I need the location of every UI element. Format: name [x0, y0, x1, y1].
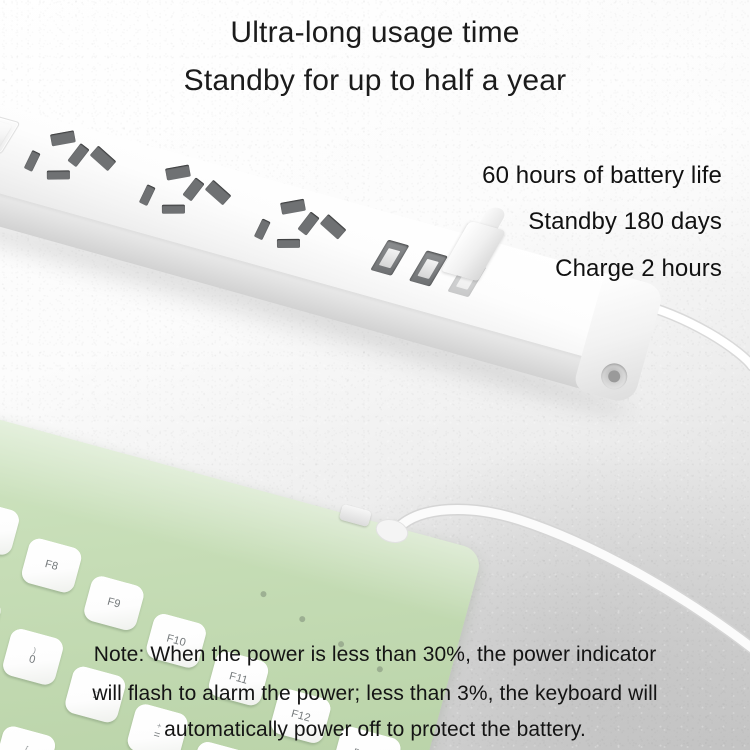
power-switch-rocker[interactable]: [0, 113, 12, 148]
note-line-2: will flash to alarm the power; less than…: [0, 682, 750, 706]
note-line-3: automatically power off to protect the b…: [0, 718, 750, 742]
spec-standby: Standby 180 days: [528, 208, 722, 236]
usb-port-1[interactable]: [370, 240, 409, 276]
product-marketing-image: F5F6F7F8F9F10F11F12Delete^6&7*8(9)0_-+=B…: [0, 0, 750, 750]
power-switch[interactable]: [0, 107, 21, 154]
headline-line-2: Standby for up to half a year: [0, 64, 750, 98]
usb-plug-body: [441, 221, 506, 281]
spec-battery-life: 60 hours of battery life: [482, 162, 722, 190]
note-line-1: Note: When the power is less than 30%, t…: [0, 643, 750, 667]
headline-line-1: Ultra-long usage time: [0, 16, 750, 50]
spec-charge-time: Charge 2 hours: [555, 255, 722, 283]
